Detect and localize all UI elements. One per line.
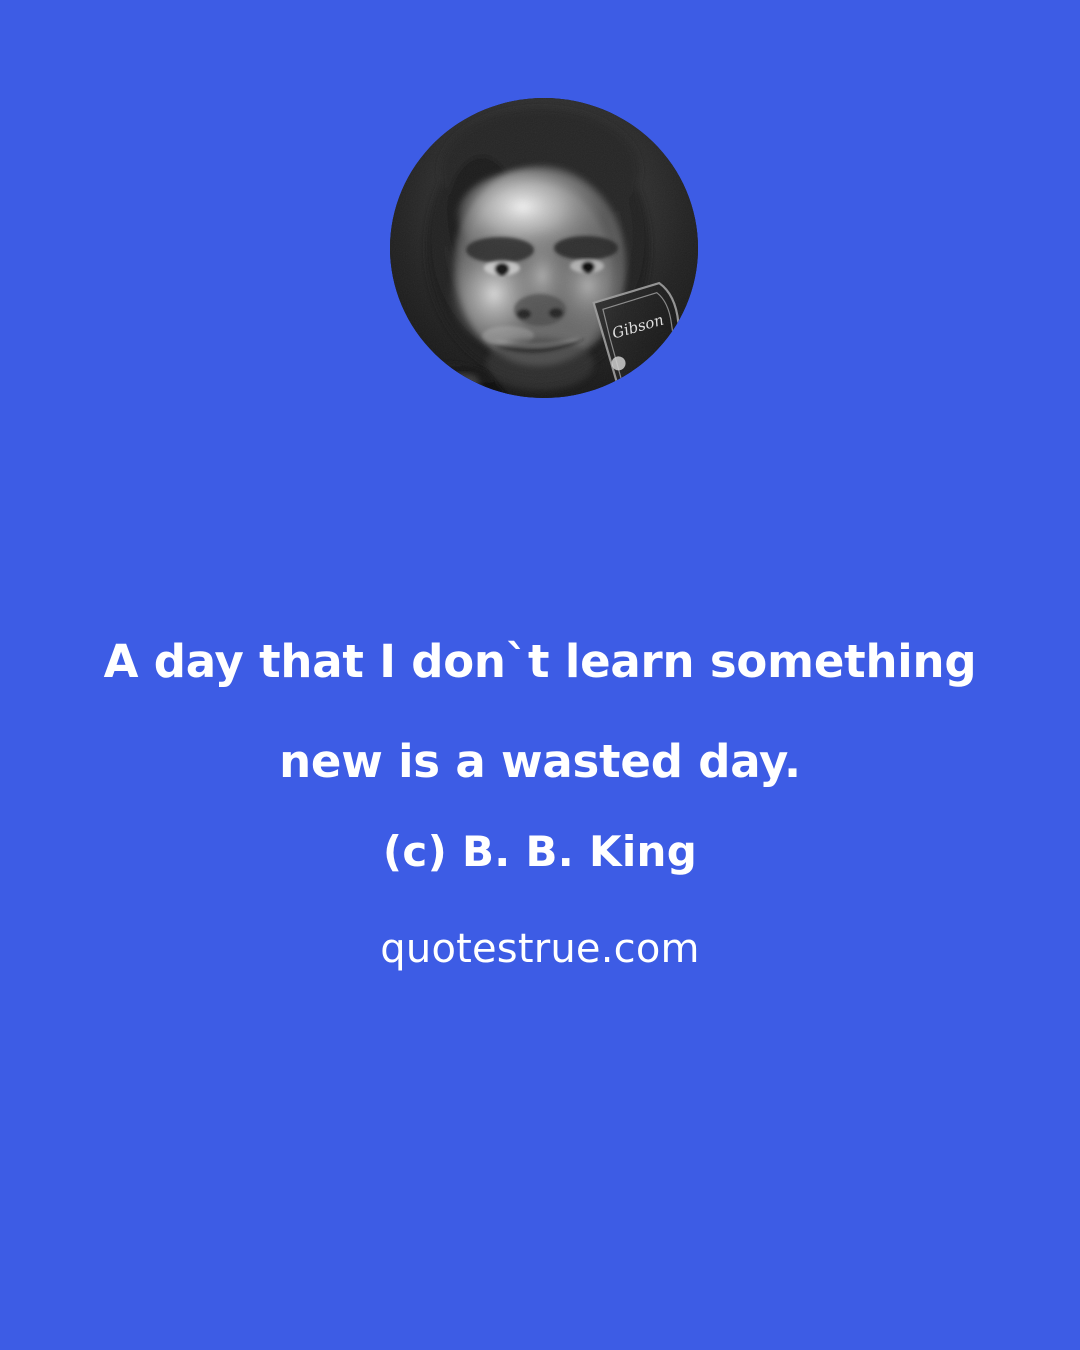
- quote-line-2: new is a wasted day.: [0, 712, 1080, 812]
- quote-line-1: A day that I don`t learn something: [0, 612, 1080, 712]
- b-b-king-portrait-image: Gibson: [390, 98, 698, 398]
- quote-attribution: (c) B. B. King: [0, 820, 1080, 884]
- portrait-avatar: Gibson: [390, 98, 698, 398]
- quote-text: A day that I don`t learn something new i…: [0, 612, 1080, 812]
- quote-card: Gibson A day that I don`t learn somethin…: [0, 0, 1080, 1350]
- source-website: quotestrue.com: [0, 918, 1080, 980]
